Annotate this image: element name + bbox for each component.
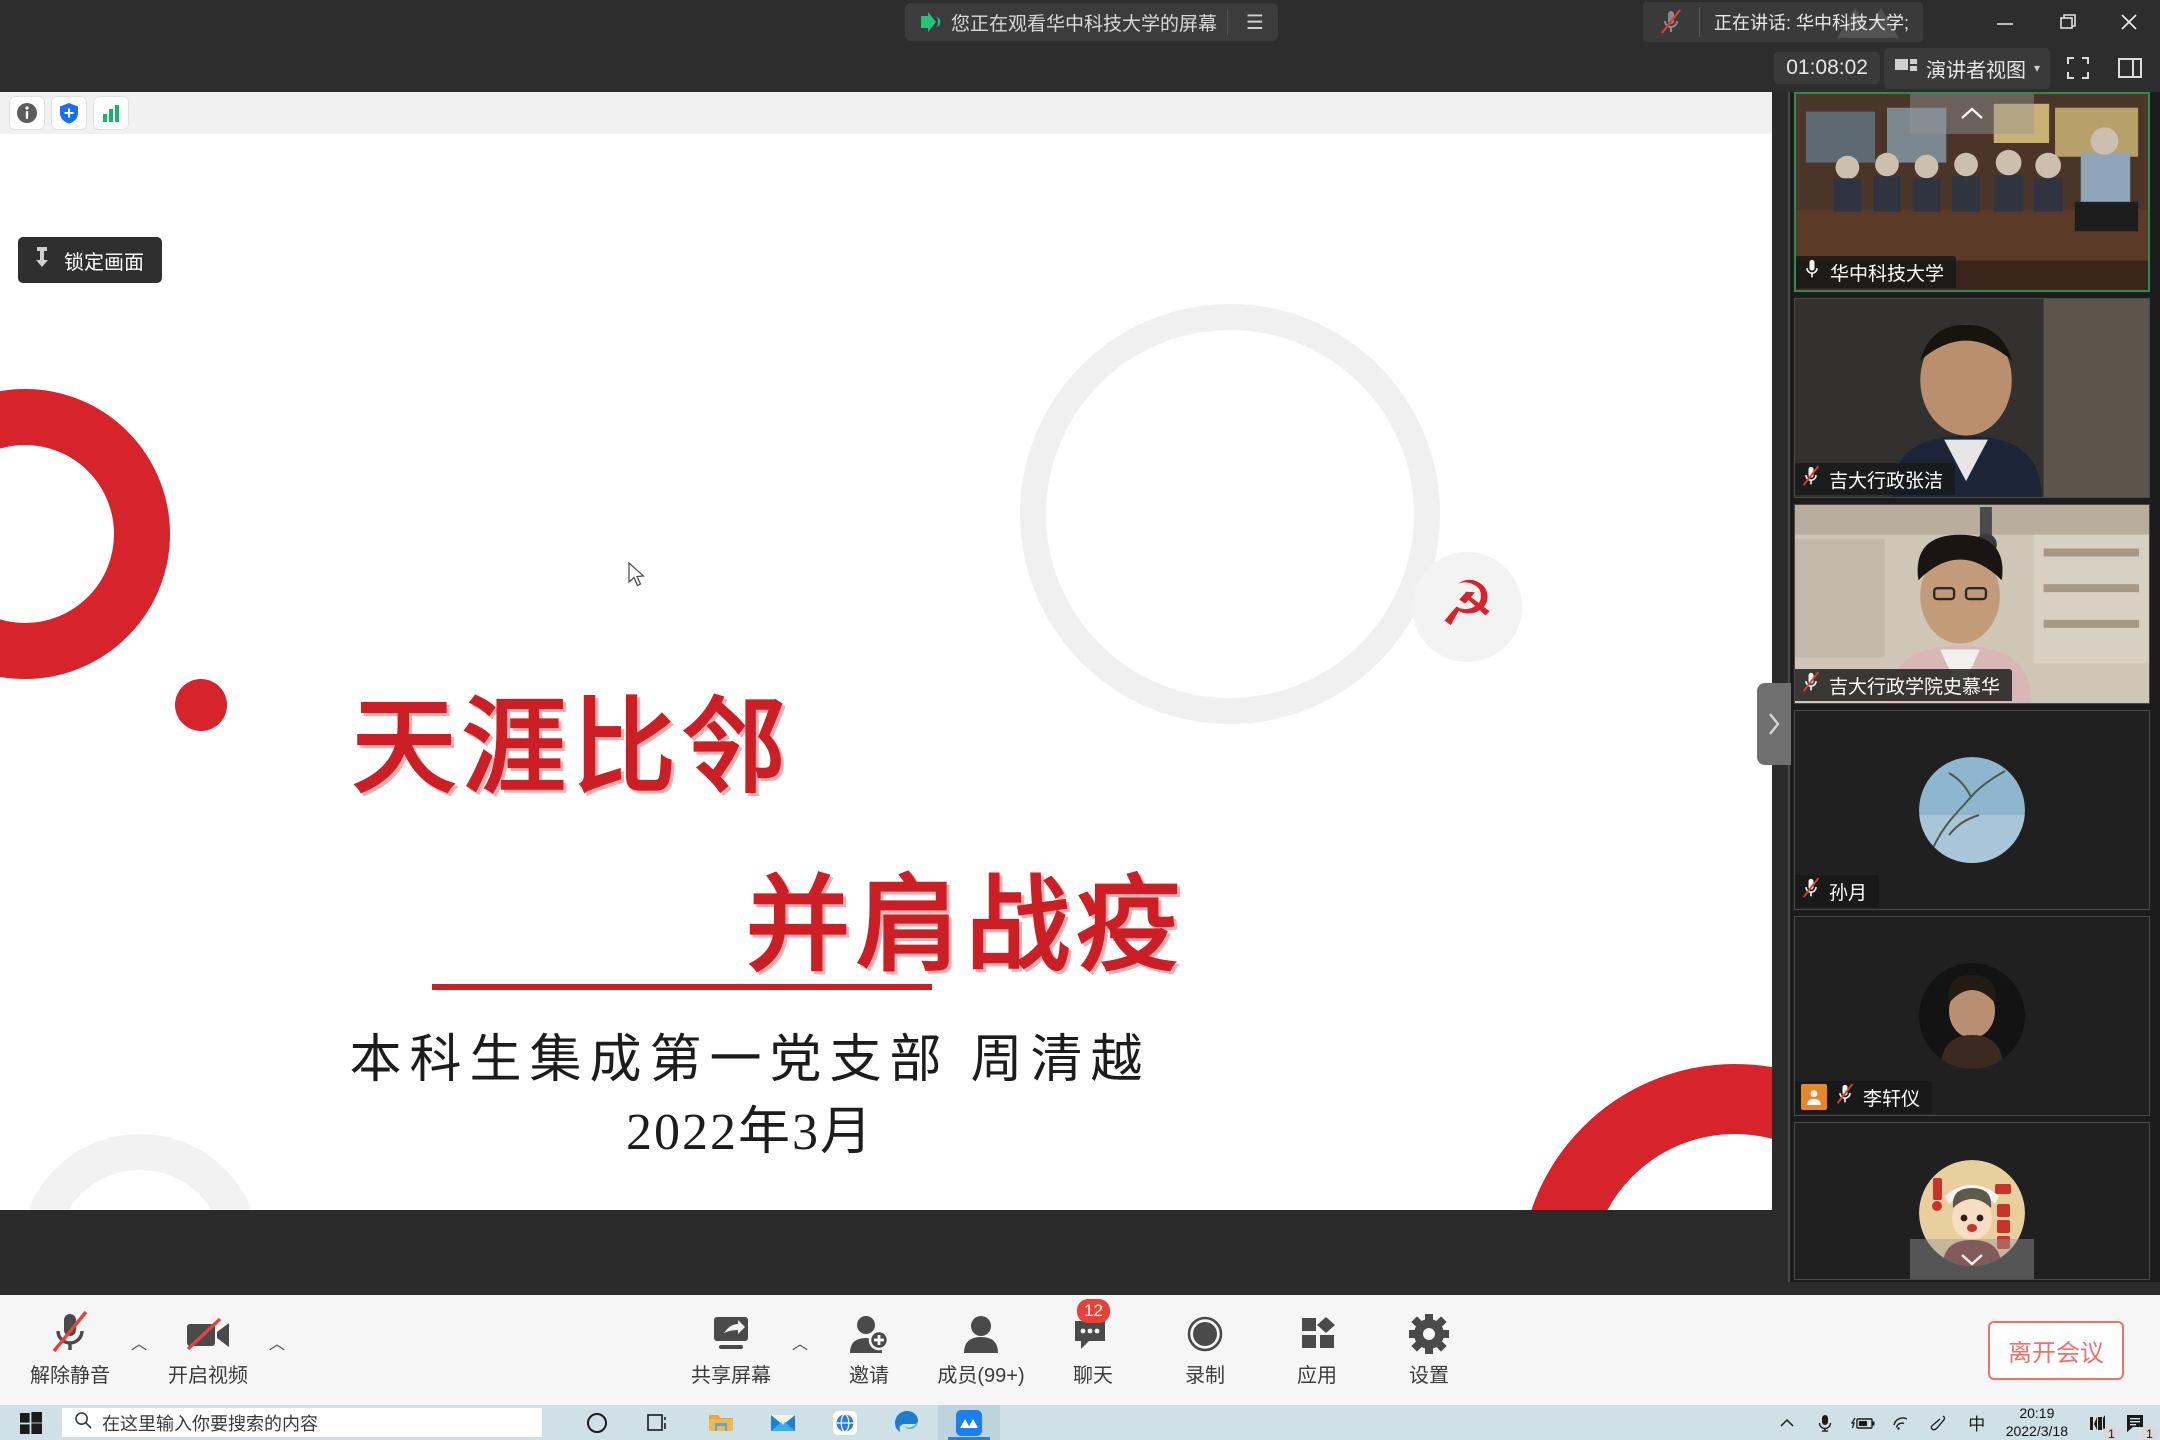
- participant-name-bar: 李轩仪: [1795, 1081, 1932, 1113]
- search-input[interactable]: 在这里输入你要搜索的内容: [62, 1408, 542, 1437]
- mail-icon[interactable]: [752, 1405, 814, 1440]
- notification-badge: 1: [2141, 1425, 2158, 1440]
- chat-icon: 12: [1070, 1305, 1116, 1355]
- participant-name: 吉大行政张洁: [1829, 466, 1943, 493]
- decor-red-ring-left: [0, 389, 170, 679]
- chevron-up-icon[interactable]: [1768, 1405, 1806, 1440]
- decor-gray-ring-top: [1020, 304, 1440, 724]
- share-options-caret[interactable]: ︿: [787, 1330, 813, 1388]
- chat-label: 聊天: [1073, 1359, 1113, 1388]
- divider: [1227, 9, 1228, 35]
- meeting-window: 您正在观看华中科技大学的屏幕 ☰ 正在讲话: 华中科技大学;: [0, 0, 2160, 1440]
- video-tile[interactable]: 吉大行政学院史慕华: [1794, 504, 2150, 704]
- participant-name-bar: 吉大行政学院史慕华: [1795, 669, 2012, 701]
- leave-meeting-button[interactable]: 离开会议: [1988, 1321, 2124, 1380]
- shared-screen-topstrip: [0, 92, 1772, 134]
- meeting-toolbar: 01:08:02 演讲者视图 ▾: [0, 44, 2160, 92]
- chevron-up-icon: [1959, 106, 1985, 122]
- presentation-slide: ☭ 天涯比邻 并肩战疫 本科生集成第一党支部 周清越 2022年3月: [0, 134, 1772, 1210]
- party-emblem-glyph: ☭: [1439, 574, 1495, 636]
- share-screen-label: 共享屏幕: [691, 1359, 771, 1388]
- participants-button[interactable]: 成员(99+): [925, 1305, 1037, 1388]
- windows-start-icon[interactable]: [0, 1405, 62, 1440]
- invite-user-icon: [847, 1305, 891, 1355]
- pin-icon: [32, 245, 52, 275]
- shield-plus-icon[interactable]: [52, 97, 86, 129]
- microsoft-edge-icon[interactable]: [876, 1405, 938, 1440]
- video-tile[interactable]: 李轩仪: [1794, 916, 2150, 1116]
- record-label: 录制: [1185, 1359, 1225, 1388]
- participant-name: 吉大行政学院史慕华: [1829, 672, 2000, 699]
- mic-unmuted-icon: [1802, 257, 1822, 287]
- system-tray: 中 20:19 2022/3/18 1: [1768, 1405, 2154, 1440]
- scroll-up-button[interactable]: [1910, 94, 2034, 134]
- participant-name: 孙月: [1829, 878, 1867, 905]
- chevron-right-icon: [1766, 710, 1782, 738]
- wifi-icon[interactable]: [1882, 1405, 1920, 1440]
- speaker-view-icon: [1894, 57, 1918, 79]
- signal-bars-icon[interactable]: [94, 97, 128, 129]
- fullscreen-button[interactable]: [2054, 48, 2102, 88]
- window-buttons: [1974, 0, 2160, 44]
- share-menu-icon[interactable]: ☰: [1238, 10, 1272, 35]
- host-icon: [1801, 1084, 1827, 1110]
- participant-name-bar: 孙月: [1795, 875, 1879, 907]
- search-placeholder: 在这里输入你要搜索的内容: [102, 1410, 318, 1436]
- split-view-icon: [2117, 56, 2143, 80]
- meeting-timer: 01:08:02: [1774, 52, 1880, 84]
- task-view-icon[interactable]: [628, 1405, 690, 1440]
- action-center-icon[interactable]: 1: [2116, 1405, 2154, 1440]
- control-center-group: 共享屏幕 ︿ 邀请: [0, 1305, 2160, 1388]
- layout-button[interactable]: [2106, 48, 2154, 88]
- windows-taskbar: 在这里输入你要搜索的内容: [0, 1405, 2160, 1440]
- ime-indicator[interactable]: 中: [1958, 1405, 1996, 1440]
- party-emblem-icon: ☭: [1412, 552, 1522, 662]
- participants-label: 成员(99+): [937, 1359, 1024, 1388]
- clock-time: 20:19: [2019, 1405, 2054, 1423]
- view-mode-button[interactable]: 演讲者视图 ▾: [1884, 48, 2050, 89]
- video-tile[interactable]: 孙月: [1794, 710, 2150, 910]
- invite-button[interactable]: 邀请: [813, 1305, 925, 1388]
- share-notice-text: 您正在观看华中科技大学的屏幕: [951, 9, 1217, 36]
- mic-muted-icon: [1643, 8, 1699, 36]
- watermark-logo: [1797, 2, 1917, 42]
- slide-title-line1: 天涯比邻: [352, 662, 792, 813]
- apps-icon: [1295, 1305, 1339, 1355]
- decor-red-ring-right: [1520, 1064, 1772, 1210]
- slide-subtitle: 本科生集成第一党支部 周清越: [0, 1017, 1500, 1092]
- invite-label: 邀请: [849, 1359, 889, 1388]
- tencent-meeting-icon[interactable]: [938, 1405, 1000, 1440]
- info-icon[interactable]: [10, 97, 44, 129]
- cortana-circle-icon[interactable]: [566, 1405, 628, 1440]
- fullscreen-icon: [2065, 55, 2091, 81]
- lock-screen-label: 锁定画面: [64, 246, 144, 275]
- share-notice-pill[interactable]: 您正在观看华中科技大学的屏幕 ☰: [905, 3, 1278, 41]
- chevron-down-icon: ▾: [2034, 61, 2040, 75]
- microphone-icon[interactable]: [1806, 1405, 1844, 1440]
- clock-date: 2022/3/18: [2006, 1423, 2068, 1440]
- chat-button[interactable]: 12 聊天: [1037, 1305, 1149, 1388]
- internet-explorer-icon[interactable]: [814, 1405, 876, 1440]
- speaker-icon: [919, 11, 941, 33]
- file-explorer-icon[interactable]: [690, 1405, 752, 1440]
- toolbar-right-group: 01:08:02 演讲者视图 ▾: [1774, 44, 2154, 92]
- participant-name-bar: 华中科技大学: [1796, 256, 1956, 288]
- avatar: [1919, 757, 2025, 863]
- shared-screen-stage: ☭ 天涯比邻 并肩战疫 本科生集成第一党支部 周清越 2022年3月 锁定画面: [0, 134, 1772, 1210]
- mic-muted-icon: [1801, 464, 1821, 494]
- participants-icon: [959, 1305, 1003, 1355]
- taskbar-apps: [566, 1405, 1000, 1440]
- clock[interactable]: 20:19 2022/3/18: [1996, 1405, 2078, 1440]
- mic-muted-icon: [1835, 1082, 1855, 1112]
- video-tile[interactable]: [1794, 1122, 2150, 1280]
- speaking-notice-pill: 正在讲话: 华中科技大学;: [1643, 2, 1923, 42]
- slide-date: 2022年3月: [0, 1089, 1500, 1164]
- settings-label: 设置: [1409, 1359, 1449, 1388]
- decor-red-dot: [175, 679, 227, 731]
- record-button[interactable]: 录制: [1149, 1305, 1261, 1388]
- title-bar: 您正在观看华中科技大学的屏幕 ☰ 正在讲话: 华中科技大学;: [0, 0, 2160, 44]
- chevron-down-icon: [1959, 1251, 1985, 1267]
- chat-unread-badge: 12: [1077, 1299, 1110, 1323]
- search-icon: [74, 1411, 92, 1434]
- maximize-button[interactable]: [2036, 0, 2098, 44]
- meeting-control-bar: 解除静音 ︿ 开启视频 ︿: [0, 1295, 2160, 1405]
- video-tile[interactable]: 华中科技大学: [1794, 92, 2150, 292]
- collapse-panel-button[interactable]: [1757, 683, 1791, 765]
- mic-muted-icon: [1801, 876, 1821, 906]
- share-screen-icon: [708, 1305, 754, 1355]
- record-icon: [1183, 1305, 1227, 1355]
- scroll-down-button[interactable]: [1910, 1239, 2034, 1279]
- view-mode-label: 演讲者视图: [1926, 54, 2026, 83]
- share-screen-button[interactable]: 共享屏幕: [675, 1305, 787, 1388]
- apps-label: 应用: [1297, 1359, 1337, 1388]
- participant-name-bar: 吉大行政张洁: [1795, 463, 1955, 495]
- participant-video-panel: 华中科技大学: [1788, 92, 2160, 1282]
- video-tile[interactable]: 吉大行政张洁: [1794, 298, 2150, 498]
- mouse-cursor: [628, 562, 646, 588]
- volume-icon[interactable]: 1: [2078, 1405, 2116, 1440]
- minimize-button[interactable]: [1974, 0, 2036, 44]
- settings-button[interactable]: 设置: [1373, 1305, 1485, 1388]
- slide-title-line2: 并肩战疫: [746, 840, 1186, 991]
- lock-screen-button[interactable]: 锁定画面: [18, 237, 162, 283]
- mic-muted-icon: [1801, 670, 1821, 700]
- participant-name: 李轩仪: [1863, 1084, 1920, 1111]
- settings-gear-icon: [1407, 1305, 1451, 1355]
- apps-button[interactable]: 应用: [1261, 1305, 1373, 1388]
- participant-name: 华中科技大学: [1830, 259, 1944, 286]
- slide-divider: [432, 984, 932, 990]
- close-button[interactable]: [2098, 0, 2160, 44]
- avatar: [1919, 963, 2025, 1069]
- pen-icon[interactable]: [1920, 1405, 1958, 1440]
- battery-charging-icon[interactable]: [1844, 1405, 1882, 1440]
